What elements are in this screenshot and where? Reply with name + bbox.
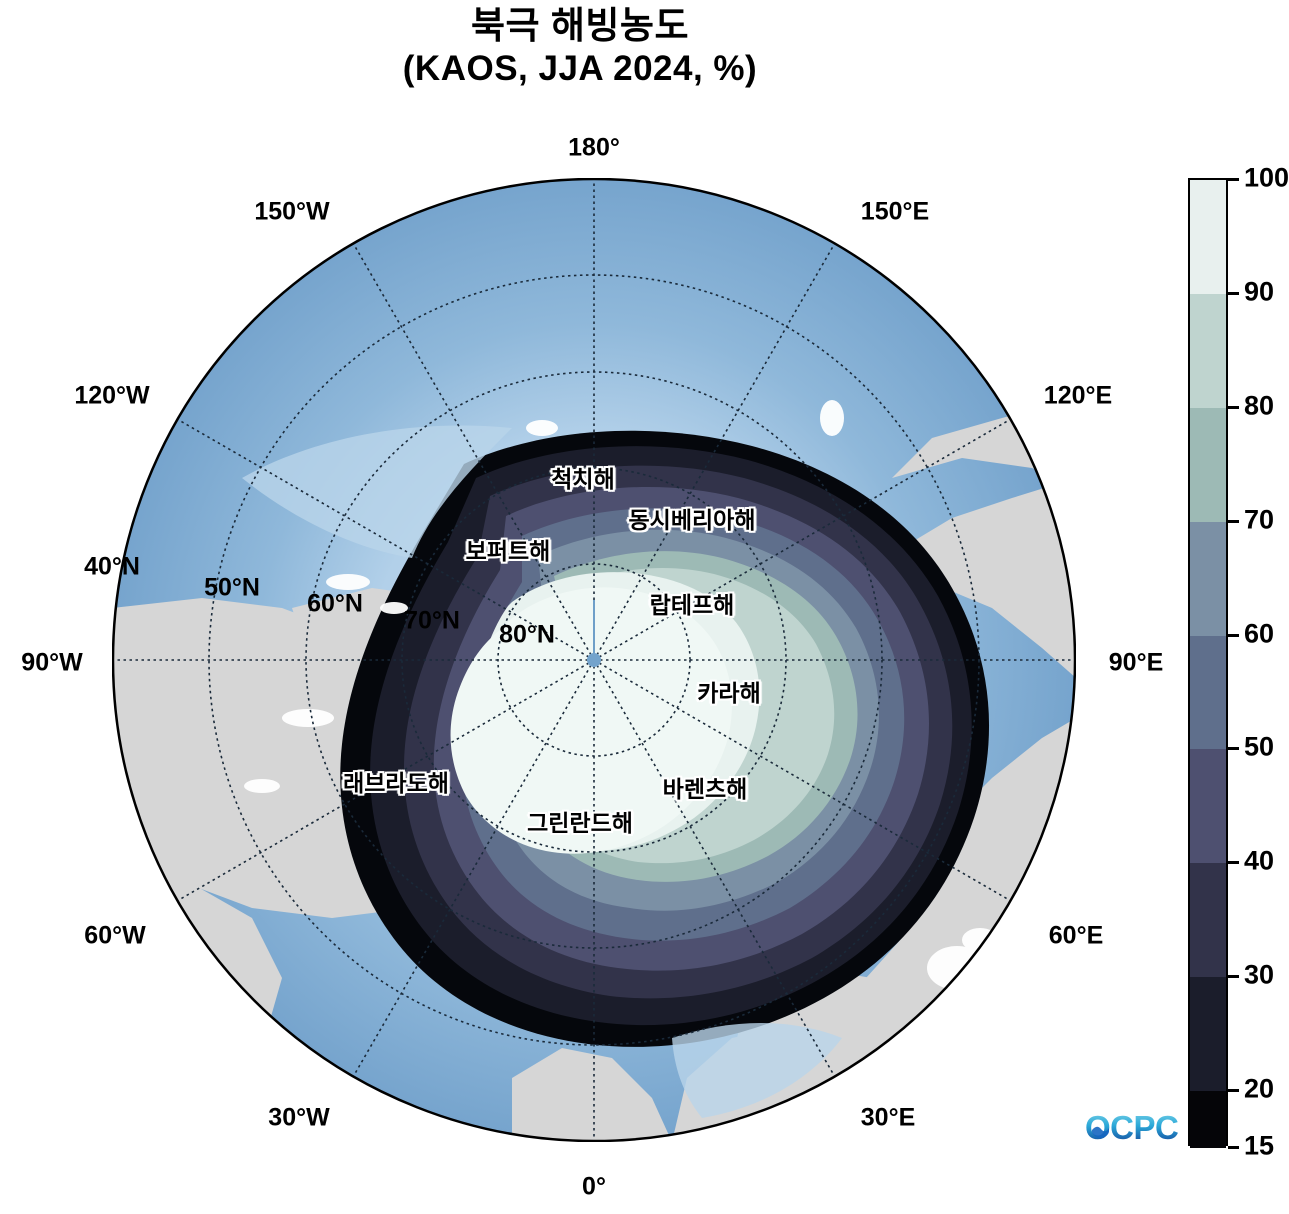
colorbar-tick-label: 20 — [1244, 1074, 1274, 1105]
longitude-label: 180° — [568, 134, 620, 163]
colorbar-tick — [1228, 861, 1239, 864]
longitude-label: 0° — [582, 1173, 606, 1202]
sea-name-label: 랍테프해 — [650, 586, 735, 620]
sea-name-label: 바렌츠해 — [663, 770, 748, 804]
colorbar-tick-label: 100 — [1244, 163, 1289, 194]
colorbar-tick-label: 70 — [1244, 504, 1274, 535]
page-title: 북극 해빙농도 — [0, 4, 1160, 48]
north-pole-marker — [587, 653, 601, 667]
sea-name-label: 그린란드해 — [527, 804, 633, 838]
longitude-label: 90°W — [21, 649, 82, 678]
sea-name-label: 척치해 — [551, 460, 614, 494]
longitude-label: 120°E — [1044, 382, 1112, 411]
colorbar-tick — [1228, 975, 1239, 978]
colorbar-band — [1190, 636, 1226, 750]
latitude-label: 40°N — [84, 553, 140, 582]
sea-name-label: 동시베리아해 — [629, 501, 756, 535]
longitude-label: 30°E — [861, 1104, 915, 1133]
colorbar-band — [1190, 1091, 1226, 1148]
longitude-label: 150°W — [254, 198, 329, 227]
latitude-label: 50°N — [204, 574, 260, 603]
chart-title-block: 북극 해빙농도 (KAOS, JJA 2024, %) — [0, 4, 1160, 89]
colorbar-band — [1190, 294, 1226, 408]
colorbar-tick — [1228, 634, 1239, 637]
ocpc-logo: OCPC — [1085, 1108, 1180, 1148]
latitude-label: 80°N — [499, 621, 555, 650]
colorbar-band — [1190, 863, 1226, 977]
colorbar-band — [1190, 977, 1226, 1091]
colorbar-tick — [1228, 520, 1239, 523]
arctic-sea-ice-map — [112, 178, 1076, 1142]
colorbar-tick-label: 40 — [1244, 846, 1274, 877]
colorbar-tick — [1228, 292, 1239, 295]
colorbar-band — [1190, 408, 1226, 522]
colorbar-gradient[interactable] — [1188, 178, 1228, 1146]
colorbar-band — [1190, 180, 1226, 294]
colorbar-tick — [1228, 178, 1239, 181]
longitude-label: 30°W — [268, 1104, 329, 1133]
colorbar-band — [1190, 522, 1226, 636]
sea-name-label: 카라해 — [697, 674, 760, 708]
colorbar-band — [1190, 749, 1226, 863]
ocpc-logo-mark: OCPC — [1085, 1108, 1180, 1148]
colorbar-tick — [1228, 1146, 1239, 1149]
longitude-label: 60°W — [84, 922, 145, 951]
colorbar-tick-label: 50 — [1244, 732, 1274, 763]
colorbar-tick-label: 90 — [1244, 276, 1274, 307]
colorbar-tick-label: 30 — [1244, 960, 1274, 991]
colorbar[interactable]: 152030405060708090100 — [1188, 178, 1228, 1146]
latitude-label: 60°N — [307, 590, 363, 619]
colorbar-tick — [1228, 406, 1239, 409]
longitude-label: 150°E — [861, 198, 929, 227]
polar-map-panel — [112, 178, 1076, 1142]
page-subtitle: (KAOS, JJA 2024, %) — [0, 48, 1160, 89]
sea-name-label: 보퍼트해 — [466, 532, 551, 566]
colorbar-tick — [1228, 1089, 1239, 1092]
sea-name-label: 래브라도해 — [343, 764, 449, 798]
colorbar-tick-label: 15 — [1244, 1131, 1274, 1162]
colorbar-tick — [1228, 747, 1239, 750]
colorbar-tick-label: 60 — [1244, 618, 1274, 649]
longitude-label: 90°E — [1109, 649, 1163, 678]
longitude-label: 60°E — [1049, 922, 1103, 951]
longitude-label: 120°W — [74, 382, 149, 411]
colorbar-tick-label: 80 — [1244, 390, 1274, 421]
latitude-label: 70°N — [404, 607, 460, 636]
